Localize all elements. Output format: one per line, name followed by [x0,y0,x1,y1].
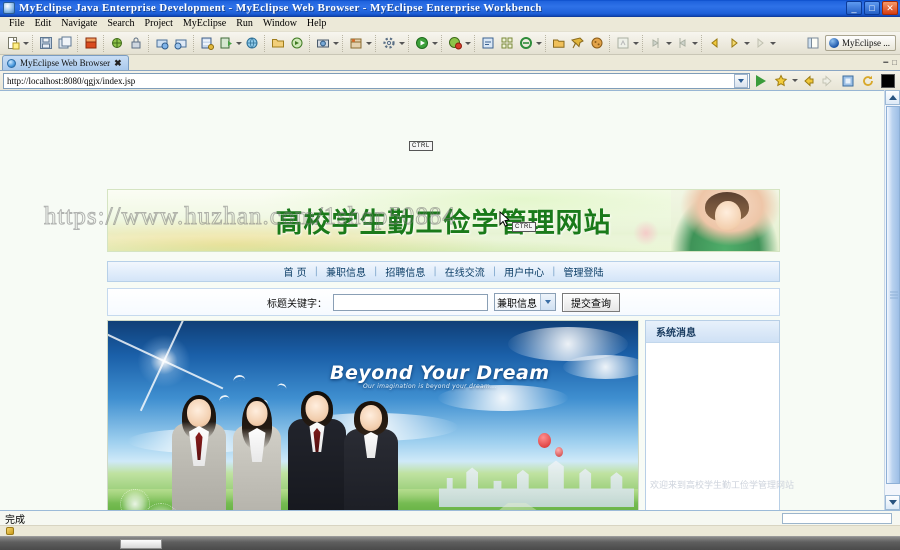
browser-status-text: 完成 [0,511,25,526]
chevron-down-icon[interactable] [431,35,438,52]
refresh-button[interactable] [859,72,877,89]
application-window: MyEclipse Java Enterprise Development - … [0,0,900,550]
prev-edit-icon[interactable] [647,35,664,52]
nav-item-admin-login[interactable]: 管理登陆 [556,264,612,279]
chevron-down-icon[interactable] [665,35,672,52]
status-field[interactable] [782,513,892,524]
perspective-tab-myeclipse[interactable]: MyEclipse ... [825,35,896,51]
server-run-icon[interactable] [217,35,234,52]
status-indicator-icon [6,527,14,535]
address-value: http://localhost:8080/qgjx/index.jsp [7,76,135,86]
chevron-down-icon[interactable] [632,35,639,52]
castle-decor [439,449,634,507]
toolbar-group-new [0,35,32,52]
chevron-down-icon[interactable] [743,35,750,52]
chevron-down-icon[interactable] [540,294,555,310]
system-message-body: 欢迎来到高校学生勤工俭学管理网站 [646,343,779,510]
scrollbar-thumb[interactable] [886,106,900,484]
editor-tab-label: MyEclipse Web Browser [20,58,110,68]
chevron-down-icon[interactable] [535,35,542,52]
go-button[interactable] [752,72,770,89]
address-input[interactable]: http://localhost:8080/qgjx/index.jsp [3,73,750,89]
web-page: https://www.huzhan.com/1shop50884 高校学生勤工… [0,91,884,510]
hero-image: Beyond Your Dream Our imagination is bey… [107,320,639,510]
blank-swatch [881,74,895,88]
scrollbar-grip [890,292,898,299]
workbench-status-bar [0,525,900,536]
face [360,405,382,431]
window-buttons: _ □ ✕ [846,1,898,15]
cookie-icon[interactable] [588,35,605,52]
chevron-down-icon[interactable] [332,35,339,52]
folder-icon[interactable] [269,35,286,52]
web-browser-icon [7,59,16,68]
sun-flare-decor [134,331,194,391]
bookmark-button[interactable] [772,72,790,89]
nav-item-home[interactable]: 首 页 [275,264,314,279]
scroll-up-button[interactable] [885,90,900,105]
menu-item-search[interactable]: Search [102,17,139,31]
search-category-select[interactable]: 兼职信息 [494,293,556,311]
toolbar-group-run [408,35,441,52]
forward-arrow-icon [821,74,835,88]
scroll-down-button[interactable] [885,495,900,510]
system-message-panel: 系统消息 欢迎来到高校学生勤工俭学管理网站 [645,320,780,510]
hero-slogan-sub: Our imagination is beyond your dream... [363,383,497,390]
chevron-down-icon[interactable] [398,35,405,52]
horizontal-scrollbar-thumb[interactable] [120,539,162,549]
banner-photo [671,190,779,252]
maximize-view-icon[interactable]: □ [892,58,897,67]
minimize-button[interactable]: _ [846,1,862,15]
browser-status-bar: 完成 [0,510,900,525]
lock-icon[interactable] [127,35,144,52]
toolbar-group-folder [264,35,309,52]
toolbar-group-debug-run [441,35,474,52]
ctrl-tooltip: CTRL [512,222,536,232]
site-nav: 首 页 | 兼职信息 | 招聘信息 | 在线交流 | 用户中心 | 管理登陆 [107,261,780,282]
toolbar-group-resources [545,35,609,52]
chevron-up-icon [889,95,897,100]
save-icon[interactable] [37,35,54,52]
editor-view-buttons: ━ □ [883,58,897,67]
toolbar-group-package [342,35,375,52]
external-tools-icon[interactable] [380,35,397,52]
server-icon[interactable] [198,35,215,52]
go-icon [756,75,766,87]
bird-decor [233,374,246,382]
student-figure [336,405,406,510]
search-input[interactable] [333,294,488,311]
window-title: MyEclipse Java Enterprise Development - … [19,2,542,14]
nav-item-user-center[interactable]: 用户中心 [496,264,552,279]
browser-viewport: https://www.huzhan.com/1shop50884 高校学生勤工… [0,90,900,510]
save-all-icon[interactable] [56,35,73,52]
refresh-icon [861,74,875,88]
forward-button[interactable] [819,72,837,89]
close-button[interactable]: ✕ [882,1,898,15]
menu-item-run[interactable]: Run [231,17,258,31]
ctrl-tooltip: CTRL [409,141,433,151]
menu-item-project[interactable]: Project [140,17,178,31]
back-icon[interactable] [706,35,723,52]
camera-icon[interactable] [314,35,331,52]
menu-item-file[interactable]: File [4,17,30,31]
hero-slogan: Beyond Your Dream [330,362,550,384]
myeclipse-icon [3,2,15,14]
horizontal-scroll-strip[interactable] [0,536,900,550]
nav-item-online-chat[interactable]: 在线交流 [437,264,493,279]
toolbar-group-server [193,35,264,52]
open-type-icon[interactable] [479,35,496,52]
minimize-view-icon[interactable]: ━ [883,58,888,67]
face [187,399,211,427]
browser-address-bar: http://localhost:8080/qgjx/index.jsp [0,70,900,90]
chevron-down-icon[interactable] [464,35,471,52]
search-submit-button[interactable]: 提交查询 [562,293,620,312]
chevron-down-icon[interactable] [365,35,372,52]
maximize-button[interactable]: □ [864,1,880,15]
next-annotation-icon[interactable] [614,35,631,52]
search-bar: 标题关键字： 兼职信息 提交查询 [107,288,780,316]
chevron-down-icon[interactable] [691,35,698,52]
pin-icon[interactable] [569,35,586,52]
myeclipse-perspective-icon [829,38,839,48]
chevron-down-icon[interactable] [769,35,776,52]
system-message-text: 欢迎来到高校学生勤工俭学管理网站 [650,478,775,491]
package-icon[interactable] [347,35,364,52]
face [247,401,268,426]
run-icon[interactable] [413,35,430,52]
vertical-scrollbar[interactable] [884,90,900,510]
search-globe-icon[interactable] [517,35,534,52]
nav-item-recruit[interactable]: 招聘信息 [377,264,433,279]
toolbar-group-open-type [474,35,545,52]
toolbar-group-debug [103,35,148,52]
main-toolbar: MyEclipse ... [0,32,900,55]
toolbar-group-history [701,35,779,52]
toolbar-group-camera [309,35,342,52]
cloud-decor [563,355,639,379]
balloon-decor [538,433,551,448]
chevron-down-icon[interactable] [791,72,798,89]
menu-item-navigate[interactable]: Navigate [56,17,102,31]
balloon-decor [555,447,563,457]
blank-swatch-button[interactable] [879,72,897,89]
face [306,395,329,422]
toolbar-group-print [77,35,103,52]
open-perspective-icon[interactable] [804,34,821,51]
deploy2-icon[interactable] [172,35,189,52]
close-icon[interactable]: ✖ [114,58,122,69]
print-icon[interactable] [82,35,99,52]
forward-icon[interactable] [725,35,742,52]
toolbar-group-external-tools [375,35,408,52]
back-arrow-icon [801,74,815,88]
chevron-down-icon[interactable] [734,74,748,88]
new-file-icon[interactable] [4,35,21,52]
site-header-banner: 高校学生勤工俭学管理网站 [107,189,780,252]
perspective-label: MyEclipse ... [842,38,890,48]
refresh-icon[interactable] [288,35,305,52]
debug-icon[interactable] [108,35,125,52]
back-button[interactable] [799,72,817,89]
menu-item-help[interactable]: Help [302,17,331,31]
bookmark-icon [774,74,788,88]
toolbar-group-deploy [148,35,193,52]
window-title-bar: MyEclipse Java Enterprise Development - … [0,0,900,17]
toolbar-group-edit-nav [642,35,701,52]
students-photo [164,395,414,510]
system-message-title: 系统消息 [646,321,779,343]
nav-item-parttime[interactable]: 兼职信息 [318,264,374,279]
debug-run-icon[interactable] [446,35,463,52]
stop-icon [841,74,855,88]
menu-item-window[interactable]: Window [258,17,302,31]
toolbar-group-save [32,35,77,52]
stop-button[interactable] [839,72,857,89]
deploy-icon[interactable] [153,35,170,52]
chevron-down-icon[interactable] [22,35,29,52]
next-edit-icon[interactable] [673,35,690,52]
grid-icon[interactable] [498,35,515,52]
search-category-value: 兼职信息 [497,295,537,310]
forward2-icon[interactable] [751,35,768,52]
bird-decor [277,383,287,390]
editor-tab-bar: MyEclipse Web Browser ✖ ━ □ [0,55,900,70]
editor-tab-web-browser[interactable]: MyEclipse Web Browser ✖ [2,55,129,70]
search-label: 标题关键字： [267,295,327,310]
menu-bar: File Edit Navigate Search Project MyEcli… [0,17,900,32]
globe-icon[interactable] [243,35,260,52]
perspective-bar: MyEclipse ... [803,34,896,51]
menu-item-edit[interactable]: Edit [30,17,57,31]
folder-open-icon[interactable] [550,35,567,52]
toolbar-group-annotation [609,35,642,52]
menu-item-myeclipse[interactable]: MyEclipse [178,17,231,31]
chevron-down-icon[interactable] [235,35,242,52]
chevron-down-icon [889,500,897,505]
